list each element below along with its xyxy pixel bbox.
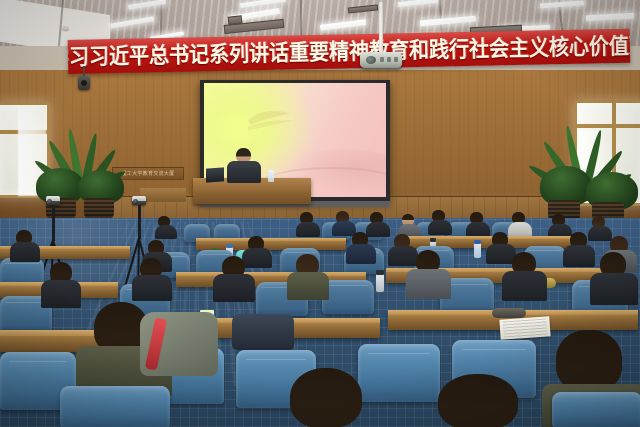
audience-member-foreground bbox=[290, 368, 368, 427]
audience-member bbox=[470, 212, 488, 236]
person-head bbox=[556, 330, 622, 392]
presenter-body bbox=[227, 161, 261, 183]
person-shoulders bbox=[466, 222, 490, 237]
person-shoulders bbox=[406, 269, 451, 299]
person-shoulders bbox=[287, 272, 329, 300]
presenter bbox=[226, 148, 262, 182]
camera-lens-icon bbox=[47, 199, 52, 204]
audience-member bbox=[300, 212, 318, 236]
projector-detail bbox=[380, 57, 384, 62]
chair[interactable] bbox=[552, 392, 640, 427]
projector-detail bbox=[394, 57, 398, 62]
water-bottle bbox=[474, 240, 481, 258]
tripod-column bbox=[52, 205, 55, 241]
audience-member bbox=[552, 214, 570, 238]
projector-mount-pole bbox=[379, 2, 383, 54]
audience-member bbox=[492, 232, 514, 262]
audience-member bbox=[158, 216, 176, 238]
audience-member-foreground bbox=[438, 374, 524, 427]
banner-text: 学习习近平总书记系列讲话重要精神教育和践行社会主义核心价值观 bbox=[68, 34, 631, 68]
person-shoulders bbox=[296, 222, 320, 237]
person-shoulders bbox=[132, 275, 172, 301]
projector-lens-icon bbox=[366, 56, 376, 64]
person-shoulders bbox=[10, 242, 40, 262]
audience-member bbox=[600, 252, 634, 298]
audience-member bbox=[416, 250, 448, 294]
audience-member bbox=[432, 210, 450, 234]
wall-speaker-icon bbox=[78, 76, 90, 90]
smoke-detector-icon bbox=[62, 26, 69, 30]
audience-member bbox=[296, 254, 326, 296]
person-shoulders bbox=[428, 220, 452, 235]
slide-emblem-icon bbox=[233, 101, 309, 135]
person-shoulders bbox=[155, 225, 177, 239]
camera-lens-icon bbox=[133, 199, 138, 204]
projector-detail bbox=[387, 57, 391, 62]
tripod-column bbox=[138, 205, 141, 239]
audience-member bbox=[352, 232, 374, 262]
plant-pot bbox=[84, 198, 114, 220]
audience-member bbox=[512, 252, 544, 296]
pencil-pouch bbox=[492, 308, 526, 318]
laptop bbox=[206, 167, 224, 182]
thermos bbox=[376, 270, 384, 292]
lecture-hall-scene: 学习习近平总书记系列讲话重要精神教育和践行社会主义核心价值观 理工大学教育交流大… bbox=[0, 0, 640, 427]
notebook bbox=[499, 316, 550, 339]
podium-water-bottle bbox=[268, 170, 274, 182]
audience-member bbox=[140, 258, 170, 298]
audience-member bbox=[512, 212, 530, 236]
audience-member bbox=[222, 256, 252, 298]
audience-member bbox=[394, 234, 416, 264]
person-head bbox=[290, 368, 362, 427]
person-head bbox=[438, 374, 518, 427]
backpack bbox=[232, 314, 294, 350]
desk bbox=[196, 238, 346, 250]
person-shoulders bbox=[502, 271, 547, 301]
person-shoulders bbox=[41, 280, 81, 308]
ceiling-vent bbox=[228, 15, 243, 24]
person-shoulders bbox=[590, 273, 638, 305]
chair[interactable] bbox=[60, 386, 170, 427]
audience-member bbox=[570, 232, 594, 264]
audience-member bbox=[50, 262, 80, 304]
person-shoulders bbox=[213, 274, 255, 302]
wall-plaque-text: 理工大学教育交流大厦 bbox=[121, 170, 174, 177]
person-shoulders bbox=[346, 244, 376, 264]
chair[interactable] bbox=[322, 280, 374, 314]
person-shoulders bbox=[563, 245, 595, 267]
audience-member bbox=[592, 216, 610, 240]
chair[interactable] bbox=[358, 344, 440, 402]
person-shoulders bbox=[388, 246, 418, 266]
ceiling-projector bbox=[360, 52, 402, 68]
audience-member bbox=[16, 230, 38, 260]
